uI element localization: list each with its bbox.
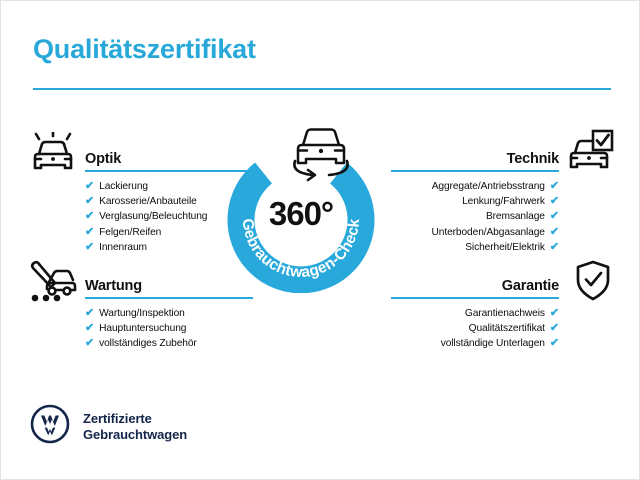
- check-icon: ✔: [550, 336, 559, 351]
- section-heading: Technik: [391, 143, 559, 169]
- list-item: ✔vollständiges Zubehör: [85, 336, 253, 351]
- list-item: ✔Wartung/Inspektion: [85, 306, 253, 321]
- checklist-technik: Aggregate/Antriebsstrang✔ Lenkung/Fahrwe…: [391, 179, 559, 255]
- section-garantie: Garantie Garantienachweis✔ Qualitätszert…: [391, 270, 559, 352]
- section-title-wartung: Wartung: [85, 278, 142, 294]
- check-icon: ✔: [85, 336, 94, 351]
- car-service-wrench-icon: [27, 260, 79, 311]
- list-item-label: Qualitätszertifikat: [469, 323, 545, 334]
- section-divider: [391, 170, 559, 172]
- list-item-label: Felgen/Reifen: [99, 227, 161, 238]
- title-divider: [33, 88, 611, 90]
- check-icon: ✔: [550, 225, 559, 240]
- car-checkbox-icon: [567, 129, 615, 180]
- list-item-label: Innenraum: [99, 242, 147, 253]
- car-front-rotate-icon: [283, 123, 359, 185]
- section-title-technik: Technik: [507, 151, 559, 167]
- check-icon: ✔: [85, 225, 94, 240]
- list-item-label: Karosserie/Anbauteile: [99, 196, 197, 207]
- list-item: ✔Hauptuntersuchung: [85, 321, 253, 336]
- list-item-label: Lenkung/Fahrwerk: [462, 196, 545, 207]
- list-item-label: Lackierung: [99, 181, 148, 192]
- list-item: Garantienachweis✔: [391, 306, 559, 321]
- list-item: Qualitätszertifikat✔: [391, 321, 559, 336]
- section-title-optik: Optik: [85, 151, 121, 167]
- check-icon: ✔: [550, 306, 559, 321]
- list-item: Unterboden/Abgasanlage✔: [391, 225, 559, 240]
- check-icon: ✔: [550, 194, 559, 209]
- page-title: Qualitätszertifikat: [33, 34, 256, 65]
- car-polish-icon: [27, 132, 79, 181]
- list-item-label: Sicherheit/Elektrik: [465, 242, 545, 253]
- check-icon: ✔: [85, 240, 94, 255]
- check-icon: ✔: [85, 321, 94, 336]
- check-icon: ✔: [550, 209, 559, 224]
- list-item: Aggregate/Antriebsstrang✔: [391, 179, 559, 194]
- check-icon: ✔: [85, 194, 94, 209]
- section-technik: Technik Aggregate/Antriebsstrang✔ Lenkun…: [391, 143, 559, 255]
- list-item-label: Wartung/Inspektion: [99, 308, 185, 319]
- brand-lockup: Zertifizierte Gebrauchtwagen: [30, 404, 187, 449]
- section-title-garantie: Garantie: [502, 278, 559, 294]
- list-item-label: Bremsanlage: [486, 211, 545, 222]
- list-item-label: Hauptuntersuchung: [99, 323, 186, 334]
- brand-line-1: Zertifizierte: [83, 411, 187, 427]
- brand-line-2: Gebrauchtwagen: [83, 427, 187, 443]
- brand-text: Zertifizierte Gebrauchtwagen: [83, 411, 187, 443]
- checklist-wartung: ✔Wartung/Inspektion ✔Hauptuntersuchung ✔…: [85, 306, 253, 352]
- check-icon: ✔: [85, 209, 94, 224]
- list-item: Bremsanlage✔: [391, 209, 559, 224]
- list-item-label: Verglasung/Beleuchtung: [99, 211, 207, 222]
- section-divider: [391, 297, 559, 299]
- check-icon: ✔: [85, 306, 94, 321]
- list-item-label: Unterboden/Abgasanlage: [432, 227, 545, 238]
- list-item-label: Garantienachweis: [465, 308, 545, 319]
- shield-check-icon: [573, 259, 613, 308]
- section-divider: [85, 297, 253, 299]
- list-item-label: Aggregate/Antriebsstrang: [432, 181, 545, 192]
- list-item-label: vollständige Unterlagen: [441, 338, 545, 349]
- section-heading: Garantie: [391, 270, 559, 296]
- certificate-page: Qualitätszertifikat: [0, 0, 640, 480]
- list-item: Sicherheit/Elektrik✔: [391, 240, 559, 255]
- check-icon: ✔: [85, 179, 94, 194]
- check-icon: ✔: [550, 240, 559, 255]
- list-item-label: vollständiges Zubehör: [99, 338, 197, 349]
- check-icon: ✔: [550, 321, 559, 336]
- list-item: Lenkung/Fahrwerk✔: [391, 194, 559, 209]
- vw-logo: [30, 404, 70, 449]
- checklist-garantie: Garantienachweis✔ Qualitätszertifikat✔ v…: [391, 306, 559, 352]
- check-icon: ✔: [550, 179, 559, 194]
- list-item: vollständige Unterlagen✔: [391, 336, 559, 351]
